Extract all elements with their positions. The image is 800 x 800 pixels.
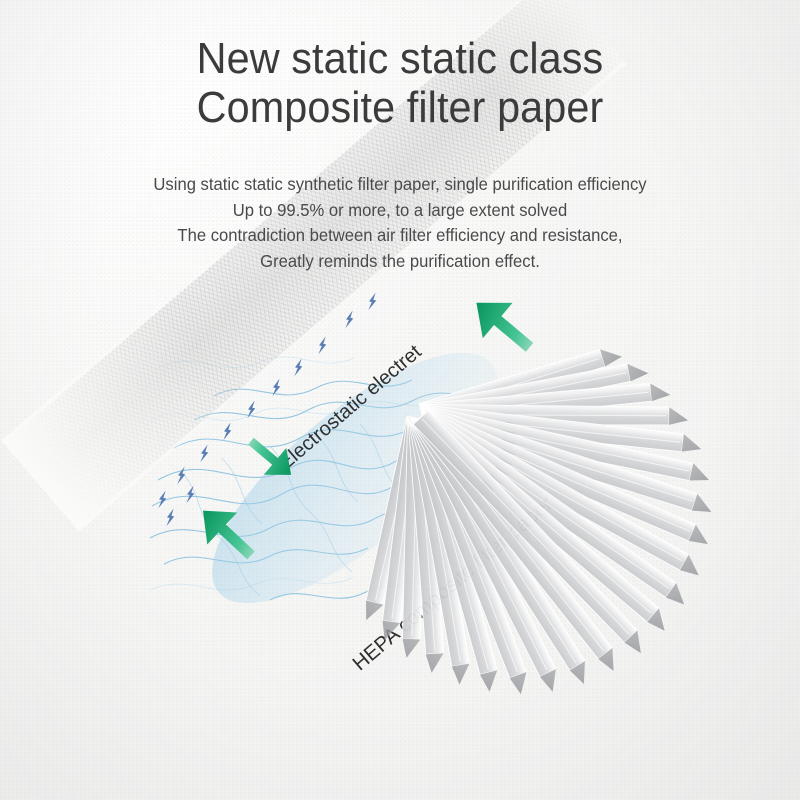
lightning-bolt-icon <box>221 421 234 442</box>
subtitle-line-2: Up to 99.5% or more, to a large extent s… <box>20 198 780 224</box>
lightning-bolt-icon <box>175 465 188 486</box>
lightning-bolt-icon <box>156 489 169 510</box>
lightning-bolt-icon <box>366 291 379 312</box>
lightning-bolt-icon <box>184 484 197 505</box>
arrow-inlet-top <box>451 273 555 377</box>
lightning-bolt-icon <box>198 443 211 464</box>
lightning-bolt-icon <box>245 399 258 420</box>
title-line-1: New static static class <box>24 34 776 83</box>
page-title: New static static class Composite filter… <box>0 34 800 132</box>
lightning-bolt-icon <box>343 309 356 330</box>
subtitle-line-1: Using static static synthetic filter pap… <box>20 172 780 198</box>
lightning-bolt-icon <box>292 357 305 378</box>
subtitle-line-4: Greatly reminds the purification effect. <box>20 249 780 275</box>
title-line-2: Composite filter paper <box>24 83 776 132</box>
arrow-through-mid <box>232 419 311 498</box>
poster-canvas: Electrostatic electret HEPA composite fi… <box>0 0 800 800</box>
page-subtitle: Using static static synthetic filter pap… <box>0 172 800 274</box>
lightning-bolt-icon <box>164 507 177 528</box>
subtitle-line-3: The contradiction between air filter eff… <box>20 223 780 249</box>
lightning-bolt-icon <box>270 377 283 398</box>
lightning-bolt-icon <box>316 335 329 356</box>
